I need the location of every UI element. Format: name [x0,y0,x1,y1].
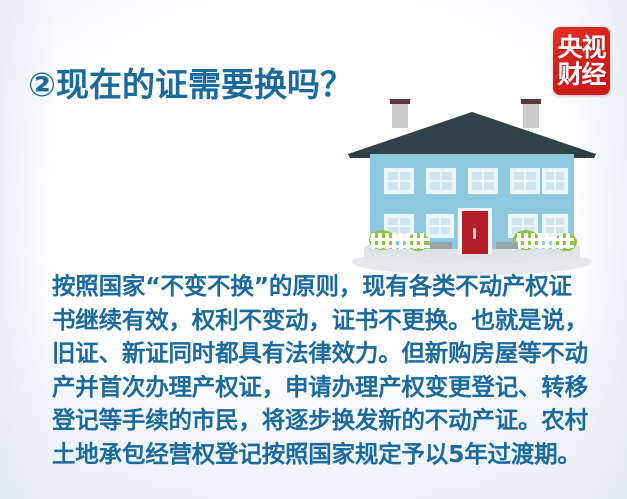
chimney-right [521,99,541,128]
body-line: 按照国家“不变不换”的原则，现有各类不动产权证 [52,270,600,304]
logo-line-1: 央视 [557,34,605,61]
picket-fence-left [370,233,430,249]
body-line: 旧证、新证同时都具有法律效力。但新购房屋等不动 [52,337,600,371]
logo-line-2: 财经 [557,61,605,88]
body-line: 书继续有效，权利不变动，证书不更换。也就是说， [52,304,600,338]
page-title: ②现在的证需要换吗？ [28,64,353,106]
body-line: 土地承包经营权登记按照国家规定予以5年过渡期。 [52,438,600,472]
body-line: 产并首次办理产权证，申请办理产权变更登记、转移 [52,371,600,405]
house-illustration [330,92,600,277]
cctv-finance-logo: 央视 财经 [553,27,610,95]
infographic-card: 央视 财经 ②现在的证需要换吗？ [0,0,627,499]
chimney-left [390,99,410,128]
body-paragraph: 按照国家“不变不换”的原则，现有各类不动产权证 书继续有效，权利不变动，证书不更… [52,270,600,471]
roof [348,112,596,158]
body-line: 登记等手续的市民，将逐步换发新的不动产证。农村 [52,404,600,438]
front-door [458,208,492,254]
